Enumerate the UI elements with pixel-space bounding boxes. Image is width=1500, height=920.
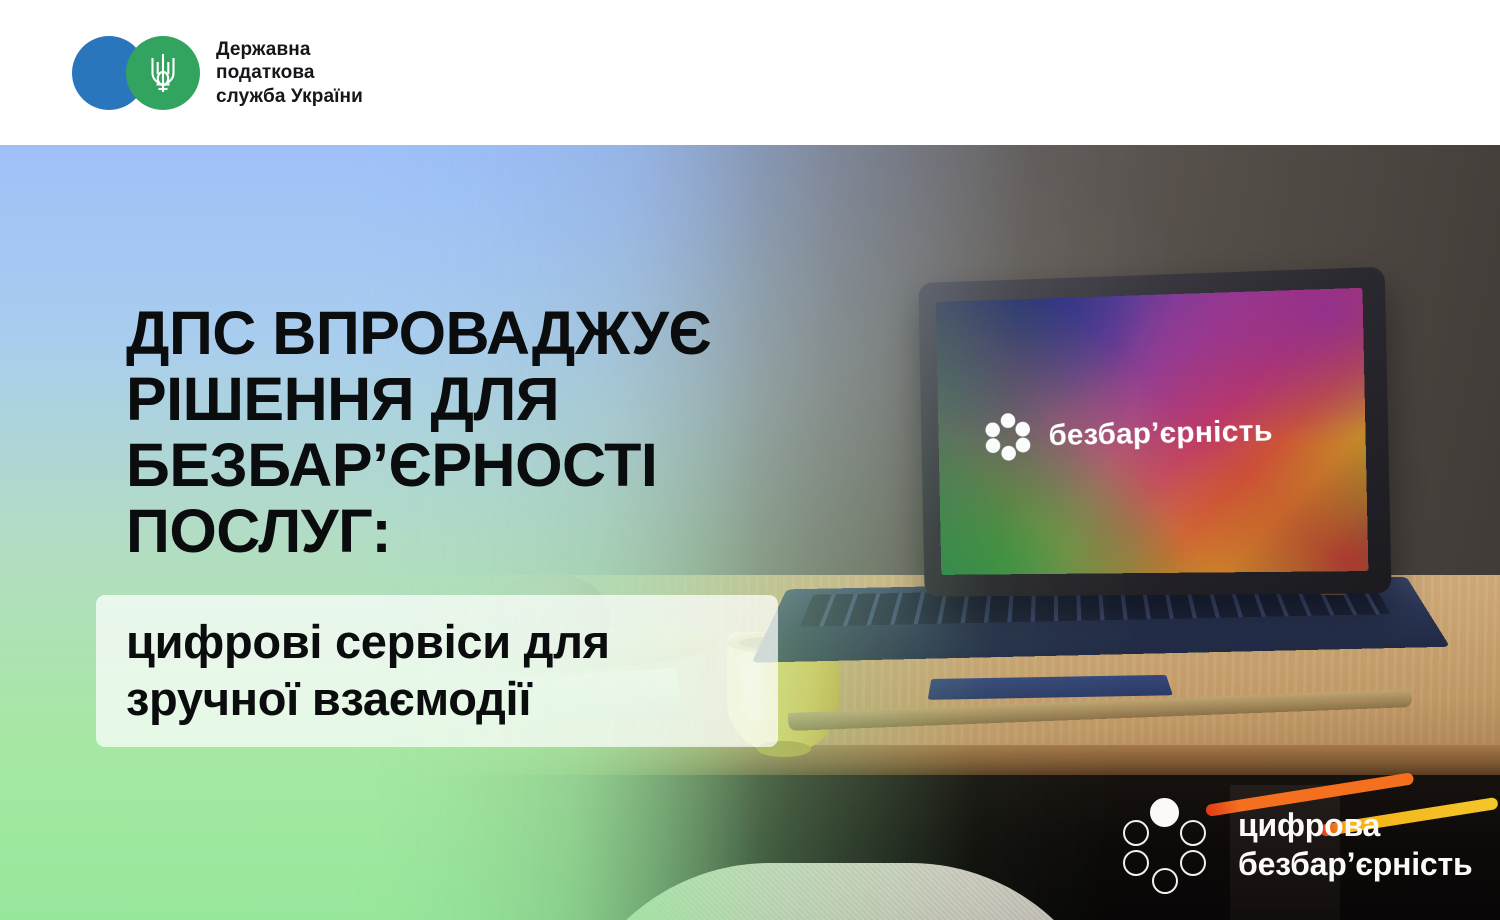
digital-accessibility-badge: цифрова безбар’єрність [1090, 770, 1500, 920]
logo-circles [72, 36, 200, 110]
page-title: ДПС ВПРОВАДЖУЄ РІШЕННЯ ДЛЯ БЕЗБАР’ЄРНОСТ… [126, 300, 846, 564]
ukraine-tryzub-icon [126, 36, 200, 110]
promo-banner: Державна податкова служба України [0, 0, 1500, 920]
six-circle-ring-icon [1118, 798, 1212, 892]
dps-logo: Державна податкова служба України [72, 36, 363, 110]
organization-name: Державна податкова служба України [216, 38, 363, 109]
header-bar: Державна податкова служба України [0, 0, 1500, 145]
badge-label: цифрова безбар’єрність [1238, 806, 1472, 884]
page-subtitle: цифрові сервіси для зручної взаємодії [126, 613, 776, 727]
